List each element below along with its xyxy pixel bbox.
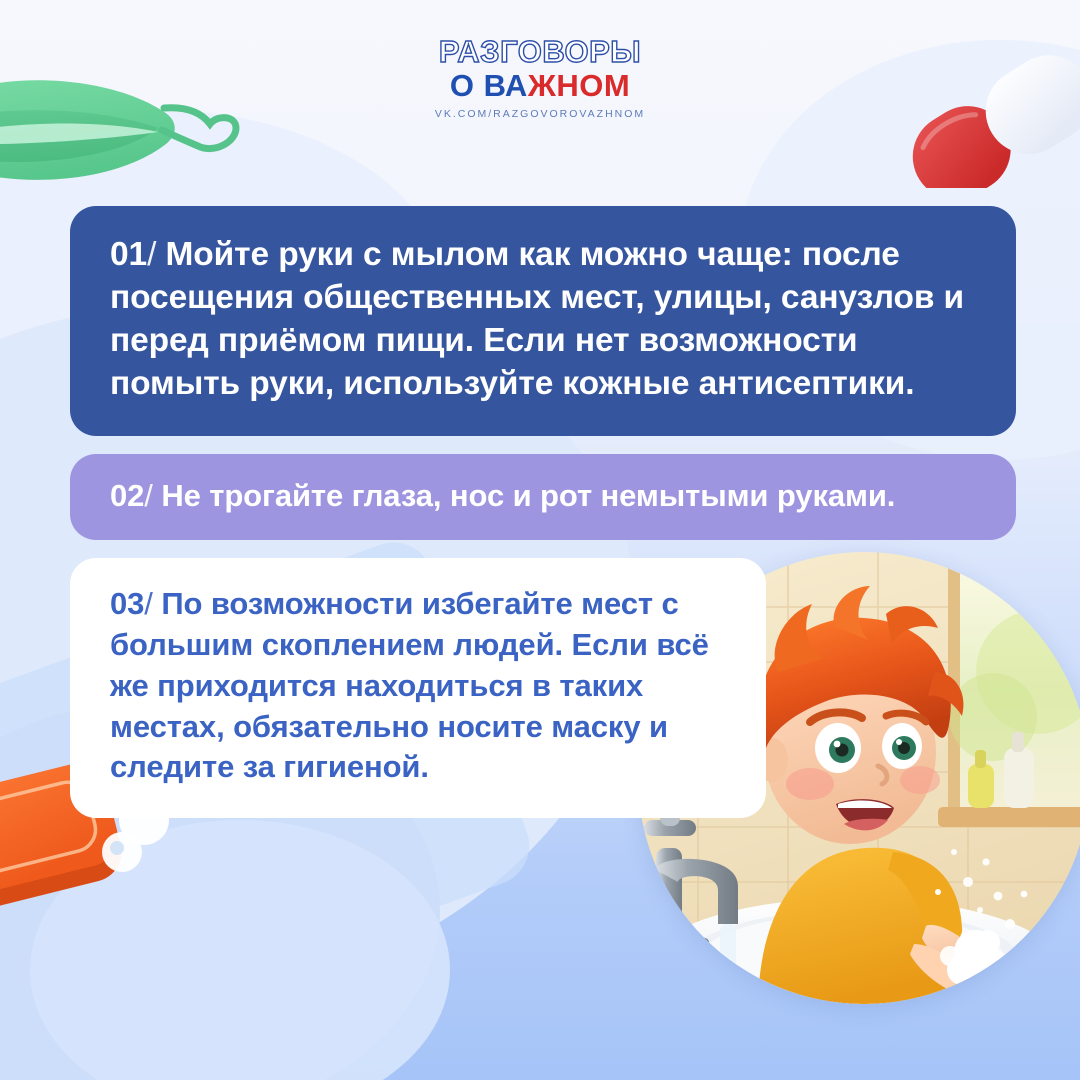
capsule-pill-icon: [888, 48, 1080, 188]
tip-card-01: 01/ Мойте руки с мылом как можно чаще: п…: [70, 206, 1016, 436]
brand-logo: РАЗГОВОРЫ О ВАЖНОМ VK.COM/RAZGOVOROVAZHN…: [380, 36, 700, 120]
tip-number-02: 02/: [110, 478, 153, 513]
logo-line-one: РАЗГОВОРЫ: [380, 36, 700, 67]
logo-line-two: О ВАЖНОМ: [380, 70, 700, 101]
tip-text-03: По возможности избегайте мест с большим …: [110, 586, 709, 785]
tip-number-03: 03/: [110, 586, 153, 621]
logo-word-om: ОМ: [579, 68, 630, 103]
logo-word-zhn: ЖН: [528, 68, 579, 103]
tip-card-02: 02/ Не трогайте глаза, нос и рот немытым…: [70, 454, 1016, 540]
infographic-poster: РАЗГОВОРЫ О ВАЖНОМ VK.COM/RAZGOVOROVAZHN…: [0, 0, 1080, 1080]
logo-word-va: ВА: [484, 68, 528, 103]
tip-card-03: 03/ По возможности избегайте мест с боль…: [70, 558, 766, 819]
tip-text-01: Мойте руки с мылом как можно чаще: после…: [110, 236, 964, 402]
tips-card-list: 01/ Мойте руки с мылом как можно чаще: п…: [70, 206, 1016, 818]
surgical-mask-icon: [0, 62, 242, 197]
logo-word-o: О: [450, 68, 484, 103]
logo-url[interactable]: VK.COM/RAZGOVOROVAZHNOM: [380, 108, 700, 120]
tip-number-01: 01/: [110, 236, 156, 273]
tip-text-02: Не трогайте глаза, нос и рот немытыми ру…: [161, 478, 895, 513]
